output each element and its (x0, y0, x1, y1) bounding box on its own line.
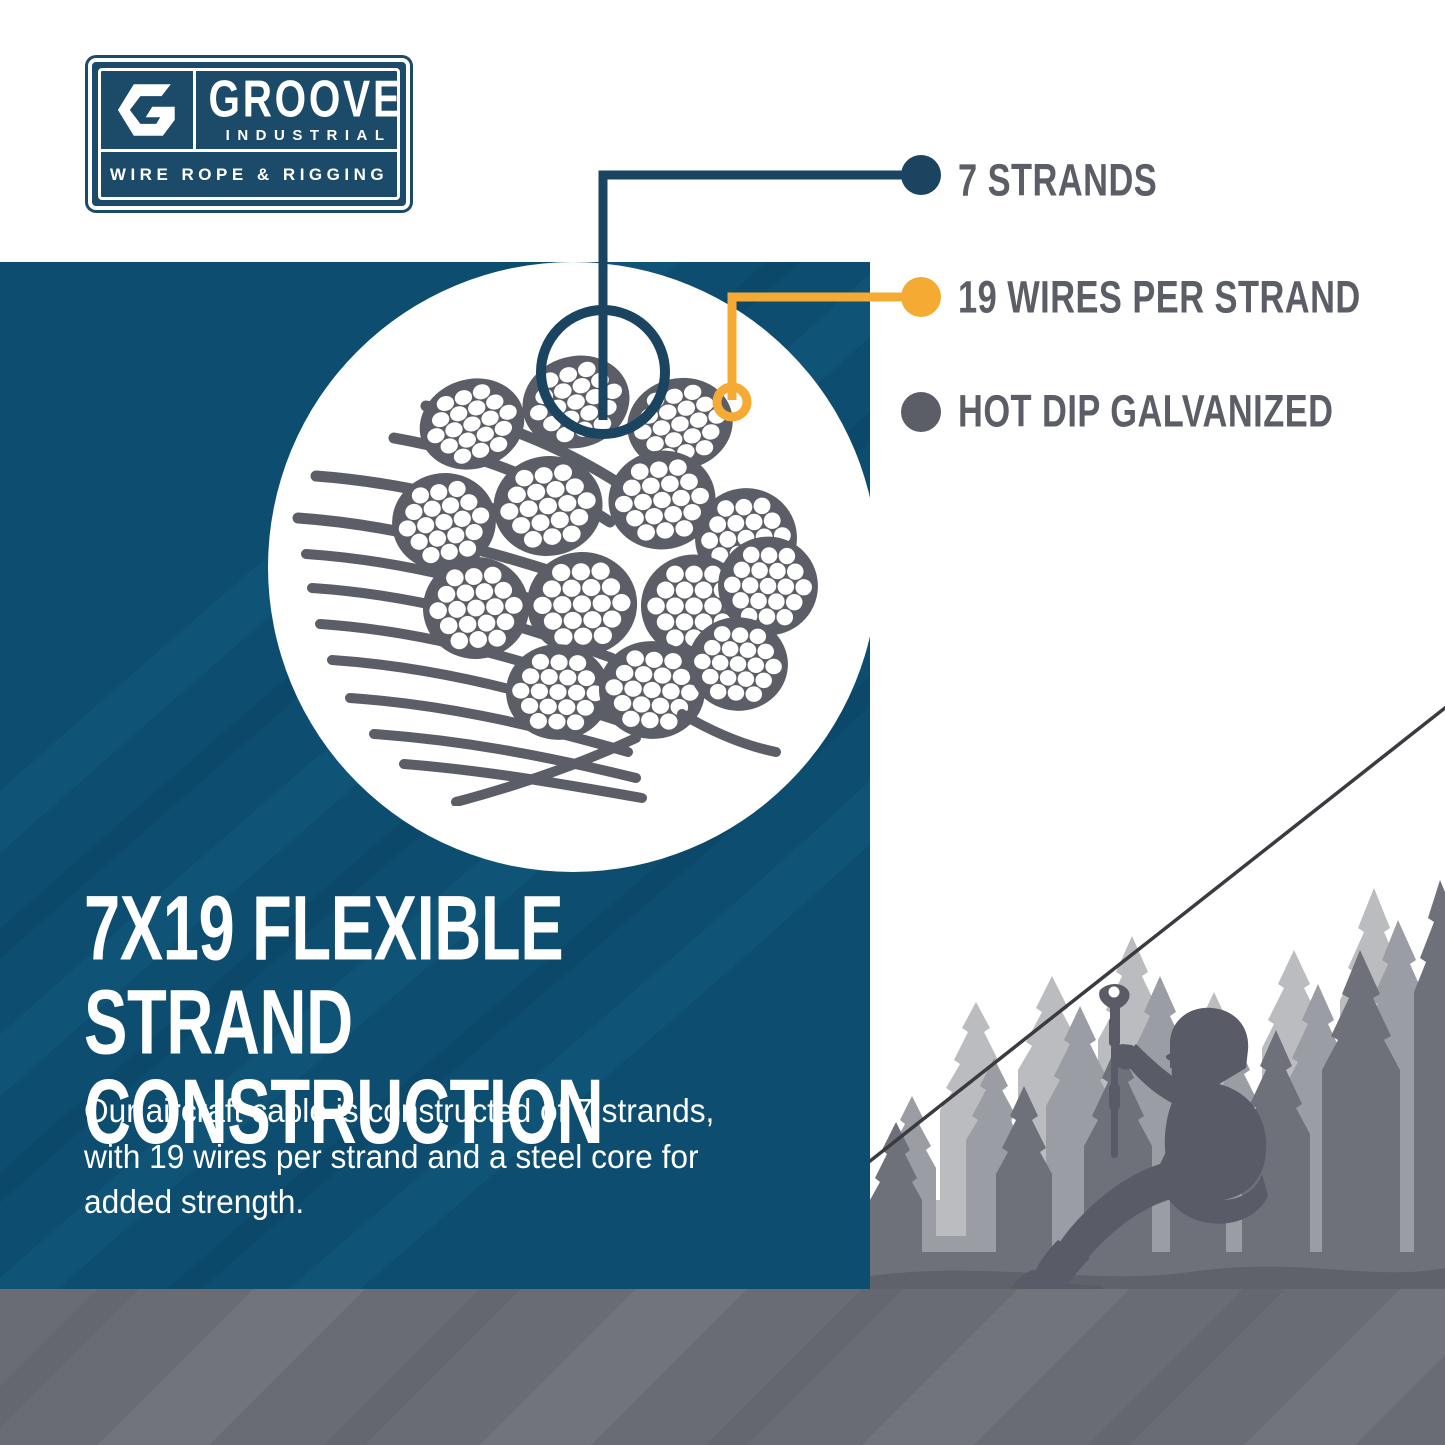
logo-tagline: WIRE ROPE & RIGGING (110, 166, 388, 183)
wire-rope-illustration (276, 286, 836, 806)
callout-dot-1 (901, 277, 941, 317)
logo-frame: GROOVE INDUSTRIAL WIRE ROPE & RIGGING (98, 68, 400, 200)
footer-stripe-texture (0, 1289, 1445, 1445)
footer-bar (0, 1289, 1445, 1445)
logo-tagline-row: WIRE ROPE & RIGGING (101, 152, 397, 197)
callout-dot-2 (901, 392, 941, 432)
headline-line-1: 7X19 FLEXIBLE (84, 884, 753, 973)
zipline-scene (870, 640, 1445, 1290)
hero-body-copy: Our aircraft cable is constructed of 7 s… (84, 1088, 718, 1225)
groove-g-icon (114, 80, 180, 140)
infographic-canvas: 7 STRANDS 19 WIRES PER STRAND HOT DIP GA… (0, 0, 1445, 1445)
groove-g-logomark (101, 71, 196, 149)
logo-primary-row: GROOVE INDUSTRIAL (101, 71, 397, 152)
callout-label-7-strands: 7 STRANDS (958, 158, 1157, 203)
logo-wordmark: GROOVE INDUSTRIAL (196, 78, 411, 143)
callout-dot-0 (901, 155, 941, 195)
wire-rope-svg (276, 286, 836, 806)
logo-brand-sub: INDUSTRIAL (220, 128, 392, 143)
callout-label-19-wires: 19 WIRES PER STRAND (958, 275, 1361, 320)
callout-label-hot-dip-galvanized: HOT DIP GALVANIZED (958, 389, 1333, 434)
logo-brand-name: GROOVE (208, 74, 402, 126)
brand-logo[interactable]: GROOVE INDUSTRIAL WIRE ROPE & RIGGING (88, 58, 410, 210)
zipline-scene-svg (870, 640, 1445, 1290)
hero-headline: 7X19 FLEXIBLE STRAND CONSTRUCTION (84, 884, 844, 1121)
